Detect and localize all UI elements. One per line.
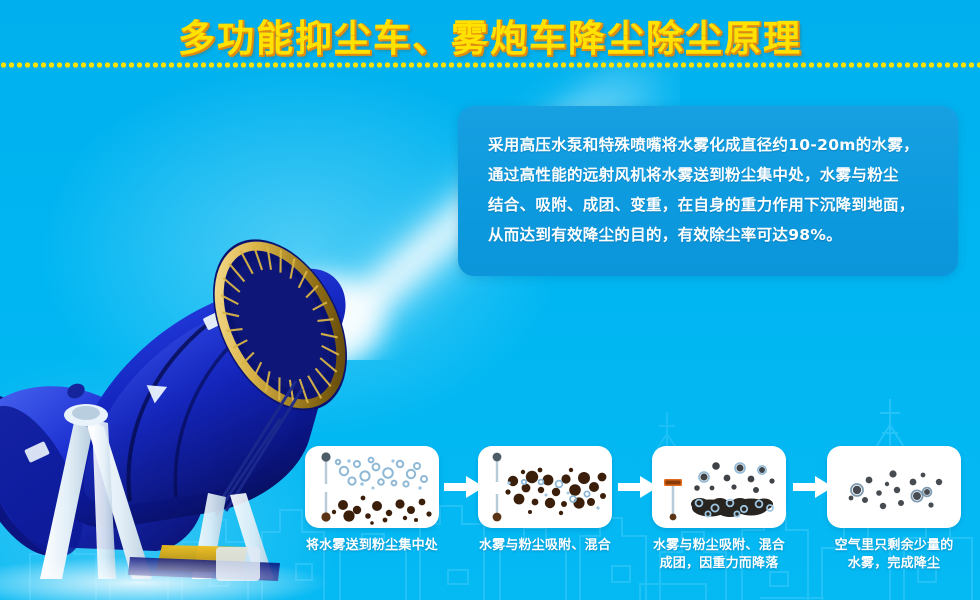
process-step-2[interactable]: 水雾与粉尘吸附、混合 [478,446,612,555]
description-line-4: 从而达到有效降尘的目的，有效除尘率可达98%。 [488,220,932,250]
infographic-poster: 多功能抑尘车、雾炮车降尘除尘原理 [0,0,980,600]
description-line-1: 采用高压水泵和特殊喷嘴将水雾化成直径约10-20m的水雾， [488,130,932,160]
title-dotted-divider [0,61,980,69]
airborne-droplet-rings [699,463,766,482]
nozzle-pin-bottom [321,492,330,522]
nozzle-pin-top [493,453,502,482]
description-line-2: 通过高性能的远射风机将水雾送到粉尘集中处，水雾与粉尘 [488,160,932,190]
poster-title-wrapper: 多功能抑尘车、雾炮车降尘除尘原理 [0,8,980,62]
process-steps-row: 将水雾送到粉尘集中处 [0,446,980,586]
mist-and-dust-separate-icon [305,446,439,528]
description-panel: 采用高压水泵和特殊喷嘴将水雾化成直径约10-20m的水雾， 通过高性能的远射风机… [458,106,958,276]
clumps-falling-icon [652,446,786,528]
step-1-label: 将水雾送到粉尘集中处 [305,537,439,555]
nozzle-pin-bottom [493,494,502,521]
dust-particle-cluster [332,496,432,525]
process-step-3[interactable]: 水雾与粉尘吸附、混合 成团，因重力而降落 [652,446,786,573]
machine-nozzle-ring [186,217,375,434]
residual-mist-icon [827,446,961,528]
mist-dust-adsorbed-icon [478,446,612,528]
step-4-card [827,446,961,528]
nozzle-pin-top [321,452,330,484]
page-title: 多功能抑尘车、雾炮车降尘除尘原理 [178,8,802,62]
mixed-particle-cluster [505,468,606,516]
step-arrow-1 [444,476,484,498]
step-arrow-3 [793,476,833,498]
step-3-label: 水雾与粉尘吸附、混合 成团，因重力而降落 [652,537,786,573]
orange-marker-post [664,479,682,520]
step-arrow-2 [618,476,658,498]
step-2-card [478,446,612,528]
step-3-card [652,446,786,528]
process-step-1[interactable]: 将水雾送到粉尘集中处 [305,446,439,555]
step-2-label: 水雾与粉尘吸附、混合 [478,537,612,555]
process-step-4[interactable]: 空气里只剩余少量的 水雾，完成降尘 [827,446,961,573]
description-line-3: 结合、吸附、成团、变重，在自身的重力作用下沉降到地面， [488,190,932,220]
step-4-label: 空气里只剩余少量的 水雾，完成降尘 [827,537,961,573]
step-1-card [305,446,439,528]
